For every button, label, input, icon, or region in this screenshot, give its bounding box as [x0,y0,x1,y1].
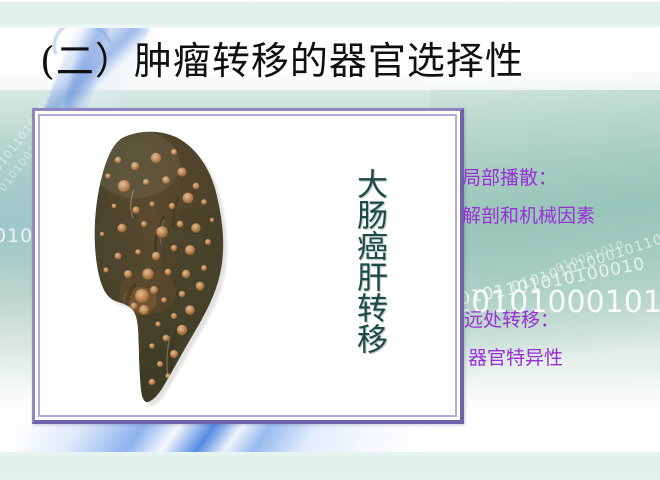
top-accent-band [0,0,660,28]
liver-specimen-image [78,124,268,414]
annotation-local-spread-detail: 解剖和机械因素 [462,204,595,228]
annotation-distant-metastasis-detail: 器官特异性 [468,346,563,370]
photo-vertical-caption: 大肠癌肝转移 [350,168,387,408]
photo-frame: 大肠癌肝转移 [32,108,464,424]
annotation-distant-metastasis-label: 远处转移： [464,308,559,332]
annotation-local-spread-label: 局部播散： [462,166,557,190]
photo-canvas: 大肠癌肝转移 [40,116,455,415]
slide-title: (二）肿瘤转移的器官选择性 [40,36,640,86]
bottom-accent-band [0,452,660,480]
presentation-slide: 10101101010100010 0101001 0101 010001010… [0,0,660,480]
